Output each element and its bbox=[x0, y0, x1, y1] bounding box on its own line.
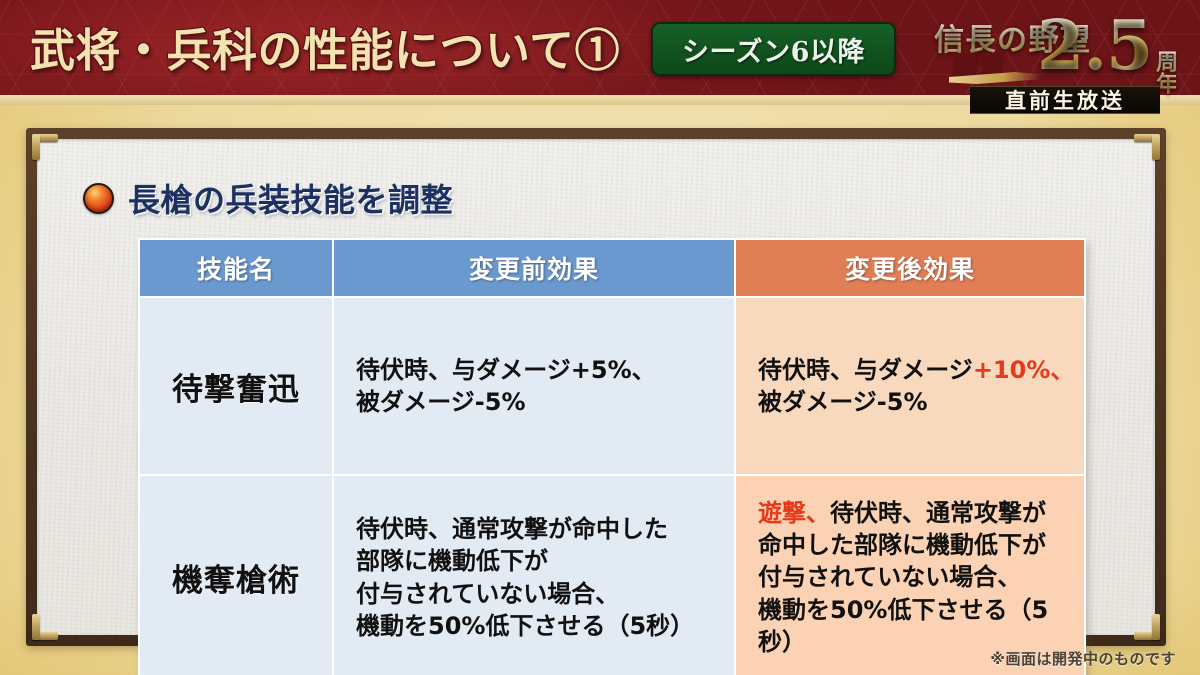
corner-bracket-bottom-left-icon bbox=[32, 610, 62, 640]
skill-name-cell: 機奪槍術 bbox=[140, 476, 332, 675]
after-highlight: 遊撃、 bbox=[758, 499, 830, 527]
broadcast-label: 直前生放送 bbox=[1005, 85, 1125, 115]
corner-bracket-top-left-icon bbox=[32, 134, 62, 164]
column-header-before-effect: 変更前効果 bbox=[334, 240, 734, 296]
slide-root: 武将・兵科の性能について① シーズン6以降 信長の野望 覇道 2.5 周年 直前… bbox=[0, 0, 1200, 675]
after-effect-cell: 待伏時、与ダメージ+10%、 被ダメージ-5% bbox=[736, 298, 1084, 474]
before-effect-cell: 待伏時、通常攻撃が命中した 部隊に機動低下が 付与されていない場合、 機動を50… bbox=[334, 476, 734, 675]
column-header-after-effect: 変更後効果 bbox=[736, 240, 1084, 296]
after-effect-cell: 遊撃、待伏時、通常攻撃が 命中した部隊に機動低下が 付与されていない場合、 機動… bbox=[736, 476, 1084, 675]
after-line: 付与されていない場合、 bbox=[758, 561, 1084, 593]
before-effect-cell: 待伏時、与ダメージ+5%、 被ダメージ-5% bbox=[334, 298, 734, 474]
after-line: 待伏時、与ダメージ+10%、 bbox=[758, 354, 1084, 386]
before-line: 付与されていない場合、 bbox=[356, 578, 734, 610]
season-badge-label: シーズン6以降 bbox=[682, 30, 865, 69]
content-frame: 長槍の兵装技能を調整 技能名 変更前効果 変更後効果 待撃奮迅 bbox=[26, 128, 1166, 646]
before-line: 被ダメージ-5% bbox=[356, 386, 734, 418]
before-line: 機動を50%低下させる（5秒） bbox=[356, 610, 734, 642]
footnote: ※画面は開発中のものです bbox=[990, 648, 1176, 669]
table-row: 機奪槍術 待伏時、通常攻撃が命中した 部隊に機動低下が 付与されていない場合、 … bbox=[140, 476, 1084, 675]
after-highlight: +10%、 bbox=[973, 356, 1075, 384]
season-badge: シーズン6以降 bbox=[651, 22, 896, 76]
after-line: 命中した部隊に機動低下が bbox=[758, 529, 1084, 561]
table-row: 待撃奮迅 待伏時、与ダメージ+5%、 被ダメージ-5% 待伏時、与ダメージ+10… bbox=[140, 298, 1084, 474]
page-title: 武将・兵科の性能について① bbox=[30, 14, 620, 79]
broadcast-banner: 直前生放送 bbox=[970, 86, 1160, 114]
before-line: 待伏時、与ダメージ+5%、 bbox=[356, 354, 734, 386]
table-header-row: 技能名 変更前効果 変更後効果 bbox=[140, 240, 1084, 296]
after-text: 待伏時、通常攻撃が bbox=[830, 499, 1046, 527]
skills-table-head: 技能名 変更前効果 変更後効果 bbox=[140, 240, 1084, 296]
after-text: 待伏時、与ダメージ bbox=[758, 356, 973, 384]
column-header-skill-name: 技能名 bbox=[140, 240, 332, 296]
bullet-sphere-icon bbox=[83, 183, 114, 214]
skills-table: 技能名 変更前効果 変更後効果 待撃奮迅 待伏時、与ダメージ+5%、 被ダメージ… bbox=[138, 238, 1086, 675]
after-line: 被ダメージ-5% bbox=[758, 386, 1084, 418]
corner-bracket-top-right-icon bbox=[1130, 134, 1160, 164]
skill-name-cell: 待撃奮迅 bbox=[140, 298, 332, 474]
corner-bracket-bottom-right-icon bbox=[1130, 610, 1160, 640]
before-line: 待伏時、通常攻撃が命中した bbox=[356, 513, 734, 545]
section-heading-text: 長槍の兵装技能を調整 bbox=[128, 175, 453, 221]
logo-anniversary-number: 2.5 bbox=[1037, 12, 1152, 80]
skills-table-body: 待撃奮迅 待伏時、与ダメージ+5%、 被ダメージ-5% 待伏時、与ダメージ+10… bbox=[140, 298, 1084, 675]
before-line: 部隊に機動低下が bbox=[356, 545, 734, 577]
section-heading: 長槍の兵装技能を調整 bbox=[83, 175, 453, 221]
after-line: 遊撃、待伏時、通常攻撃が bbox=[758, 497, 1084, 529]
content-panel: 長槍の兵装技能を調整 技能名 変更前効果 変更後効果 待撃奮迅 bbox=[37, 139, 1155, 635]
skills-table-wrapper: 技能名 変更前効果 変更後効果 待撃奮迅 待伏時、与ダメージ+5%、 被ダメージ… bbox=[138, 238, 1086, 675]
